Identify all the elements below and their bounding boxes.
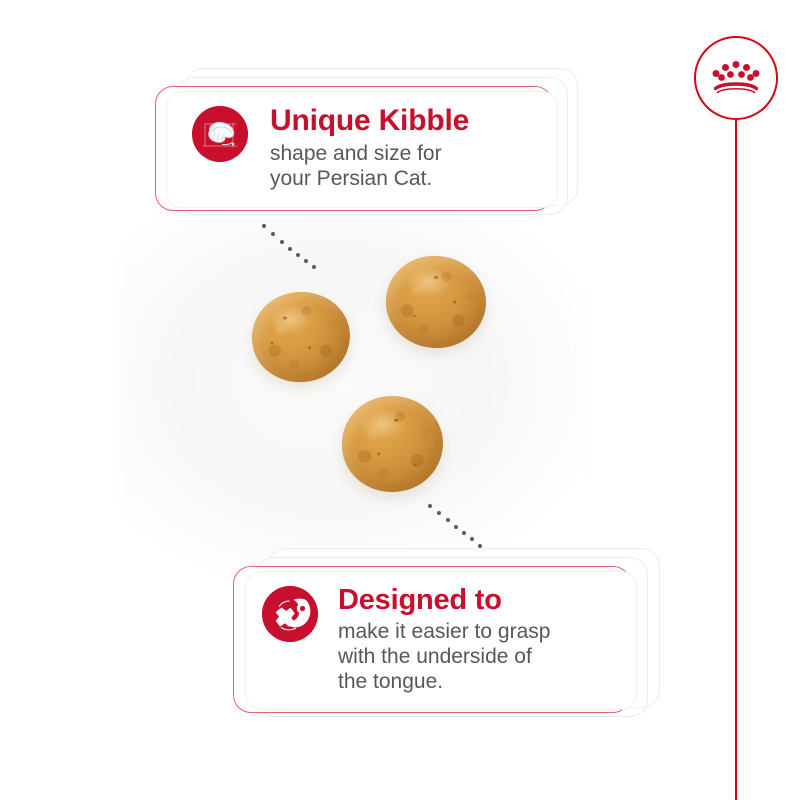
card-body-line-2: with the underside of [338, 644, 550, 669]
card-content: Designed to make it easier to grasp with… [262, 586, 634, 706]
card-headline: Designed to [338, 586, 550, 615]
crown-icon [711, 58, 761, 98]
product-feature-graphic: Unique Kibble shape and size for your Pe… [0, 0, 800, 800]
cat-tongue-icon [262, 586, 318, 642]
card-body-line-1: make it easier to grasp [338, 619, 550, 644]
logo-vertical-rule [735, 120, 737, 800]
card-text-block: Designed to make it easier to grasp with… [338, 586, 550, 695]
card-body-line-3: the tongue. [338, 669, 550, 694]
royal-canin-logo [694, 36, 786, 128]
feature-card-designed-to[interactable]: Designed to make it easier to grasp with… [0, 0, 800, 800]
